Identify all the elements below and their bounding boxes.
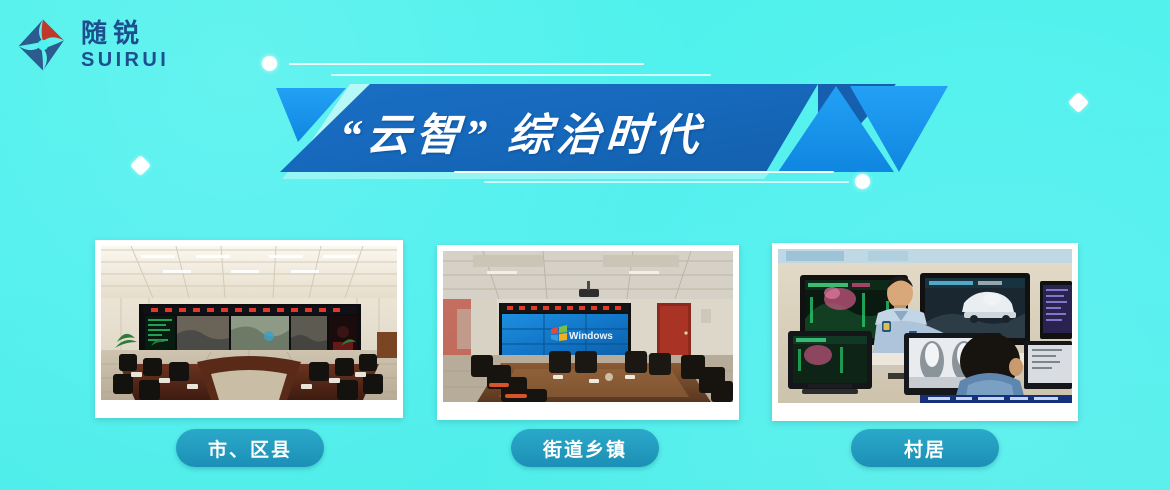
banner-line-bottom-1 — [454, 171, 834, 173]
banner-title-text: “云智” 综治时代 — [338, 96, 843, 166]
photo-village — [778, 249, 1072, 403]
label-pill-city-district[interactable]: 市、区县 — [176, 429, 324, 467]
brand-name-en: SUIRUI — [81, 50, 169, 70]
banner-line-top-2 — [331, 74, 711, 76]
brand-logo: 随锐 SUIRUI — [14, 16, 169, 74]
brand-name-cn: 随锐 — [81, 20, 169, 46]
banner-line-bottom-2 — [484, 181, 849, 183]
banner-dot-top-left-icon — [262, 56, 277, 71]
scene-control-room-large — [101, 246, 397, 400]
slide-canvas: 随锐 SUIRUI — [0, 0, 1170, 490]
brand-logo-text: 随锐 SUIRUI — [81, 20, 169, 70]
suirui-pinwheel-logo-icon — [14, 16, 72, 74]
title-banner: “云智” 综治时代 — [258, 52, 948, 197]
svg-text:Windows: Windows — [569, 331, 613, 342]
photo-card-village[interactable] — [772, 243, 1078, 421]
scene-meeting-room-medium: Windows — [443, 251, 733, 402]
banner-line-top-1 — [289, 63, 644, 65]
scene-monitoring-room-village — [778, 249, 1072, 403]
label-pill-street-township[interactable]: 街道乡镇 — [511, 429, 659, 467]
photo-card-city-district[interactable] — [95, 240, 403, 418]
label-pill-village[interactable]: 村居 — [851, 429, 999, 467]
photo-card-street-township[interactable]: Windows — [437, 245, 739, 420]
photo-street-township: Windows — [443, 251, 733, 402]
photo-city-district — [101, 246, 397, 400]
banner-dot-bottom-right-icon — [855, 174, 870, 189]
